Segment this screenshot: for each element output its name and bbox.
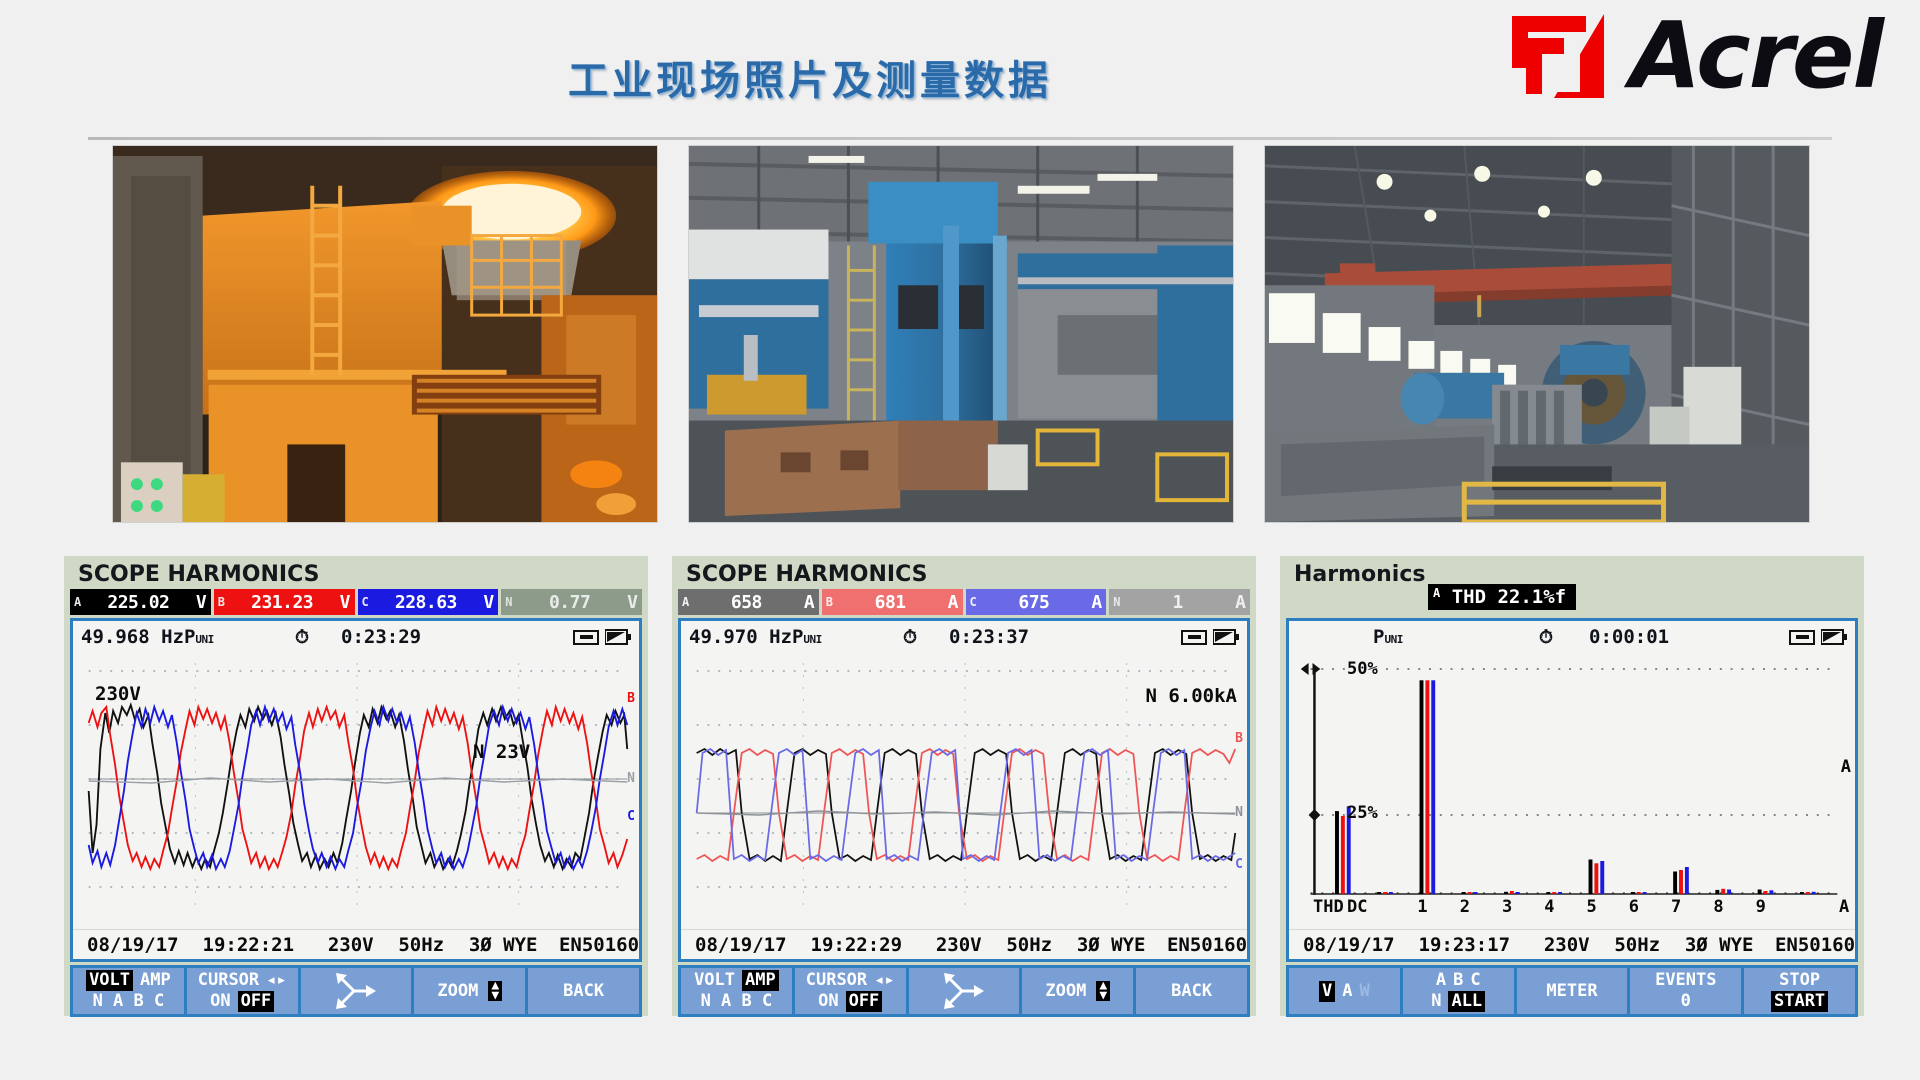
harmonic-xtick: 5 xyxy=(1587,897,1597,917)
phase-cell-c: C 228.63 V xyxy=(358,589,499,615)
phase-label-b: B xyxy=(826,595,838,609)
elapsed-time: 0:23:29 xyxy=(341,626,421,648)
harmonic-bar xyxy=(1510,891,1514,894)
neutral-scale-label: N 23V xyxy=(473,741,530,763)
softkey-phase-select[interactable]: N A B C xyxy=(93,991,165,1012)
harmonic-bar xyxy=(1727,890,1731,895)
phase-label-n: N xyxy=(505,595,517,609)
elapsed-time: 0:23:37 xyxy=(949,626,1029,648)
harmonic-xtick: 6 xyxy=(1629,897,1639,917)
footer-date: 08/19/17 xyxy=(1303,934,1419,956)
harmonic-bar xyxy=(1558,892,1562,894)
harmonic-bar xyxy=(1806,892,1810,894)
photo-row xyxy=(112,145,1812,523)
harmonic-bar xyxy=(1341,816,1345,894)
footer-frequency: 50Hz xyxy=(1614,934,1685,956)
phase-label-a: A xyxy=(682,595,694,609)
screen-status-row: 49.970 HzPUNI ⏱ 0:23:37 xyxy=(681,621,1247,653)
photo-hydraulic-forging-press xyxy=(688,145,1234,523)
harmonic-bar xyxy=(1473,892,1477,894)
softkey-phase-c[interactable]: C xyxy=(1470,970,1480,991)
softkey-volt-amp[interactable]: VOLT AMP N A B C xyxy=(681,968,792,1014)
softkey-back[interactable]: BACK xyxy=(1136,968,1247,1014)
footer-standard: EN50160 xyxy=(559,934,639,956)
harmonic-xtick: 2 xyxy=(1460,897,1470,917)
move-arrows-icon xyxy=(332,971,380,1011)
harmonic-bar xyxy=(1420,680,1424,894)
left-right-arrow-icon: ◂▸ xyxy=(874,970,894,991)
softkey-cursor[interactable]: CURSOR◂▸ ON OFF xyxy=(187,968,298,1014)
screen-status-row: 49.968 HzPUNI ⏱ 0:23:29 xyxy=(73,621,639,653)
harmonic-bar xyxy=(1516,892,1520,894)
softkey-back[interactable]: BACK xyxy=(528,968,639,1014)
harmonic-bar xyxy=(1594,863,1598,894)
harmonic-bar xyxy=(1637,892,1641,894)
harmonic-xtick: THD xyxy=(1313,897,1344,917)
footer-time: 19:23:17 xyxy=(1419,934,1544,956)
clock-icon: ⏱ xyxy=(903,627,917,648)
phase-label-b: B xyxy=(218,595,230,609)
phase-cell-n: N 0.77 V xyxy=(501,589,642,615)
footer-time: 19:22:21 xyxy=(203,934,328,956)
footer-date: 08/19/17 xyxy=(695,934,811,956)
softkey-amp-mode[interactable]: A xyxy=(1342,981,1352,1002)
phase-value-b: 231.23 xyxy=(230,592,335,613)
softkey-cursor-off[interactable]: OFF xyxy=(238,991,275,1012)
softkey-phase-all[interactable]: ALL xyxy=(1448,991,1485,1012)
harmonic-bar xyxy=(1462,892,1466,894)
footer-nominal: 230V xyxy=(1544,934,1615,956)
phase-unit-c: A xyxy=(1086,592,1102,613)
footer-standard: EN50160 xyxy=(1775,934,1855,956)
up-down-spinner-icon[interactable]: ▲▼ xyxy=(488,981,502,1001)
current-waveform-plot: N 6.00kA B N C xyxy=(681,653,1247,921)
edge-mark-c: C xyxy=(627,809,635,824)
softkey-start-label[interactable]: START xyxy=(1771,991,1828,1012)
harmonic-bar xyxy=(1552,892,1556,894)
phase-unit-n: A xyxy=(1230,592,1246,613)
neutral-scale-label: N 6.00kA xyxy=(1145,685,1237,707)
edge-mark-n: N xyxy=(627,771,635,786)
softkey-watt-mode[interactable]: W xyxy=(1360,981,1370,1002)
harmonic-xtick: 1 xyxy=(1417,897,1427,917)
harmonic-xtick: DC xyxy=(1347,897,1367,917)
phase-unit-b: V xyxy=(335,592,351,613)
harmonic-bar xyxy=(1383,892,1387,894)
footer-config: 3Ø WYE xyxy=(469,934,559,956)
edge-mark-b: B xyxy=(1235,731,1243,746)
softkey-meter-label[interactable]: METER xyxy=(1546,981,1597,1002)
phase-value-c: 675 xyxy=(982,592,1087,613)
softkey-cursor[interactable]: CURSOR◂▸ ON OFF xyxy=(795,968,906,1014)
phase-unit-b: A xyxy=(943,592,959,613)
footer-standard: EN50160 xyxy=(1167,934,1247,956)
softkey-zoom[interactable]: ZOOM ▲▼ xyxy=(414,968,525,1014)
clock-icon: ⏱ xyxy=(295,627,309,648)
edge-mark-b: B xyxy=(627,691,635,706)
softkey-amp-label[interactable]: AMP xyxy=(742,970,779,991)
softkey-zoom[interactable]: ZOOM ▲▼ xyxy=(1022,968,1133,1014)
right-phase-mark: A xyxy=(1841,757,1851,777)
status-icons xyxy=(573,629,631,645)
harmonic-bar xyxy=(1431,680,1435,894)
voltage-waveform-plot: 230V N 23V B N C xyxy=(73,653,639,921)
phase-label-c: C xyxy=(970,595,982,609)
memory-card-icon xyxy=(1789,630,1815,645)
edge-mark-n: N xyxy=(1235,805,1243,820)
softkey-cursor-on[interactable]: ON xyxy=(210,991,230,1012)
harmonic-xtick: A xyxy=(1839,897,1849,917)
harmonic-bar xyxy=(1377,892,1381,894)
harmonic-bar xyxy=(1546,892,1550,894)
softkey-zoom-label[interactable]: ZOOM xyxy=(437,981,478,1002)
softkey-amp-label[interactable]: AMP xyxy=(140,970,171,991)
header-divider xyxy=(88,137,1832,140)
acrel-logo-mark xyxy=(1508,8,1612,104)
meter-panel-scope-current: SCOPE HARMONICS A 658 A B 681 A C 675 A … xyxy=(672,556,1256,1016)
harmonics-screen: PUNI ⏱ 0:00:01 xyxy=(1286,618,1858,962)
thd-value: 22.1%f xyxy=(1497,586,1566,608)
phase-value-strip: A 658 A B 681 A C 675 A N 1 A xyxy=(678,589,1250,615)
phase-value-c: 228.63 xyxy=(374,592,479,613)
phase-value-n: 0.77 xyxy=(517,592,622,613)
softkey-bar: V A W A B C N ALL METER EVE xyxy=(1286,965,1858,1017)
left-right-arrow-icon: ◂▸ xyxy=(266,970,286,991)
voltage-scale-label: 230V xyxy=(95,683,141,705)
softkey-phase-b[interactable]: B xyxy=(1453,970,1463,991)
softkey-events[interactable]: EVENTS 0 xyxy=(1630,968,1741,1014)
harmonics-bar-chart: 50% 25% A THDDC123456789A xyxy=(1289,653,1855,921)
phase-unit-a: V xyxy=(191,592,207,613)
softkey-cursor-label[interactable]: CURSOR xyxy=(806,970,867,991)
softkey-volt-label[interactable]: VOLT xyxy=(694,970,735,991)
harmonic-bar xyxy=(1504,892,1508,894)
softkey-cursor-off[interactable]: OFF xyxy=(846,991,883,1012)
scope-screen: 49.970 HzPUNI ⏱ 0:23:37 xyxy=(678,618,1250,962)
frequency-readout: 49.970 HzPUNI xyxy=(689,626,822,648)
softkey-phase-select[interactable]: A B C N ALL xyxy=(1403,968,1514,1014)
softkey-quantity[interactable]: V A W xyxy=(1289,968,1400,1014)
harmonic-bar xyxy=(1721,889,1725,894)
screen-footer: 08/19/17 19:22:21 230V 50Hz 3Ø WYE EN501… xyxy=(73,929,639,959)
harmonic-bar xyxy=(1715,890,1719,894)
acrel-logo: Acrel xyxy=(1508,8,1882,104)
phase-label-a: A xyxy=(74,595,86,609)
frequency-readout: 49.968 HzPUNI xyxy=(81,626,214,648)
softkey-pan-arrows[interactable] xyxy=(909,968,1020,1014)
meter-panel-scope-voltage: SCOPE HARMONICS A 225.02 V B 231.23 V C … xyxy=(64,556,648,1016)
softkey-cursor-on[interactable]: ON xyxy=(818,991,838,1012)
footer-time: 19:22:29 xyxy=(811,934,936,956)
screen-status-row: PUNI ⏱ 0:00:01 xyxy=(1289,621,1855,653)
harmonic-bar xyxy=(1468,892,1472,894)
thd-phase: A xyxy=(1433,586,1440,600)
footer-frequency: 50Hz xyxy=(1006,934,1077,956)
softkey-stop-start[interactable]: STOP START xyxy=(1744,968,1855,1014)
phase-cell-n: N 1 A xyxy=(1109,589,1250,615)
harmonic-bar xyxy=(1685,867,1689,894)
slide-header: 工业现场照片及测量数据 Acrel xyxy=(0,0,1920,128)
softkey-phase-a[interactable]: A xyxy=(1436,970,1446,991)
harmonic-xtick: 9 xyxy=(1756,897,1766,917)
ytick-25: 25% xyxy=(1347,803,1378,823)
footer-config: 3Ø WYE xyxy=(1685,934,1775,956)
memory-card-icon xyxy=(573,630,599,645)
move-arrows-icon xyxy=(940,971,988,1011)
status-icons xyxy=(1181,629,1239,645)
softkey-back-label[interactable]: BACK xyxy=(563,981,604,1002)
harmonic-bar xyxy=(1812,892,1816,894)
phase-cell-c: C 675 A xyxy=(966,589,1107,615)
phase-value-strip: A 225.02 V B 231.23 V C 228.63 V N 0.77 … xyxy=(70,589,642,615)
battery-icon xyxy=(605,629,631,645)
meter-panel-harmonics: Harmonics A THD 22.1%f PUNI ⏱ 0:00:01 xyxy=(1280,556,1864,1016)
phase-cell-a: A 225.02 V xyxy=(70,589,211,615)
footer-frequency: 50Hz xyxy=(398,934,469,956)
harmonic-bar xyxy=(1335,811,1339,894)
softkey-zoom-label[interactable]: ZOOM xyxy=(1045,981,1086,1002)
panel-title: SCOPE HARMONICS xyxy=(678,560,1250,589)
screen-footer: 08/19/17 19:23:17 230V 50Hz 3Ø WYE EN501… xyxy=(1289,929,1855,959)
harmonic-bar xyxy=(1679,870,1683,894)
meter-panels-row: SCOPE HARMONICS A 225.02 V B 231.23 V C … xyxy=(64,556,1864,1016)
memory-card-icon xyxy=(1181,630,1207,645)
phase-label-c: C xyxy=(362,595,374,609)
footer-nominal: 230V xyxy=(936,934,1007,956)
softkey-events-count[interactable]: 0 xyxy=(1681,991,1691,1012)
phase-label-n: N xyxy=(1113,595,1125,609)
softkey-stop-label[interactable]: STOP xyxy=(1779,970,1820,991)
softkey-events-label[interactable]: EVENTS xyxy=(1655,970,1716,991)
thd-label: THD xyxy=(1452,586,1486,608)
phase-unit-c: V xyxy=(478,592,494,613)
harmonic-xtick: 4 xyxy=(1544,897,1554,917)
footer-date: 08/19/17 xyxy=(87,934,203,956)
softkey-pan-arrows[interactable] xyxy=(301,968,412,1014)
screen-footer: 08/19/17 19:22:29 230V 50Hz 3Ø WYE EN501… xyxy=(681,929,1247,959)
phase-value-b: 681 xyxy=(838,592,943,613)
softkey-cursor-label[interactable]: CURSOR xyxy=(198,970,259,991)
phase-unit-n: V xyxy=(622,592,638,613)
footer-nominal: 230V xyxy=(328,934,399,956)
photo-steel-ladle-furnace xyxy=(112,145,658,523)
up-down-spinner-icon[interactable]: ▲▼ xyxy=(1096,981,1110,1001)
harmonic-bar xyxy=(1389,892,1393,894)
scope-screen: 49.968 HzPUNI ⏱ 0:23:29 xyxy=(70,618,642,962)
softkey-bar: VOLT AMP N A B C CURSOR◂▸ ON OFF xyxy=(678,965,1250,1017)
harmonic-bar xyxy=(1673,872,1677,895)
ytick-50: 50% xyxy=(1347,659,1378,679)
battery-icon xyxy=(1213,629,1239,645)
harmonic-bar xyxy=(1764,891,1768,894)
harmonic-bar xyxy=(1589,860,1593,895)
panel-title: SCOPE HARMONICS xyxy=(70,560,642,589)
phase-value-a: 658 xyxy=(694,592,799,613)
phase-cell-b: B 231.23 V xyxy=(214,589,355,615)
harmonic-xtick: 3 xyxy=(1502,897,1512,917)
harmonic-bar xyxy=(1800,892,1804,894)
phase-value-a: 225.02 xyxy=(86,592,191,613)
photo-rolling-mill-workshop xyxy=(1264,145,1810,523)
battery-icon xyxy=(1821,629,1847,645)
elapsed-time: 0:00:01 xyxy=(1589,626,1669,648)
power-mode-readout: PUNI xyxy=(1373,626,1403,648)
phase-unit-a: A xyxy=(799,592,815,613)
thd-badge: A THD 22.1%f xyxy=(1428,584,1576,610)
status-icons xyxy=(1789,629,1847,645)
softkey-back-label[interactable]: BACK xyxy=(1171,981,1212,1002)
softkey-meter[interactable]: METER xyxy=(1517,968,1628,1014)
acrel-logo-text: Acrel xyxy=(1630,8,1882,104)
phase-cell-a: A 658 A xyxy=(678,589,819,615)
harmonic-bar xyxy=(1600,861,1604,894)
clock-icon: ⏱ xyxy=(1539,627,1553,648)
harmonic-xtick: 7 xyxy=(1671,897,1681,917)
softkey-bar: VOLT AMP N A B C CURSOR◂▸ ON OFF xyxy=(70,965,642,1017)
footer-config: 3Ø WYE xyxy=(1077,934,1167,956)
softkey-phase-select[interactable]: N A B C xyxy=(701,991,773,1012)
softkey-volt-amp[interactable]: VOLT AMP N A B C xyxy=(73,968,184,1014)
harmonic-bar xyxy=(1425,680,1429,894)
harmonic-bar xyxy=(1769,890,1773,894)
harmonic-bar xyxy=(1758,890,1762,895)
phase-cell-b: B 681 A xyxy=(822,589,963,615)
softkey-phase-n[interactable]: N xyxy=(1431,991,1441,1012)
harmonic-bar xyxy=(1643,892,1647,894)
phase-value-n: 1 xyxy=(1125,592,1230,613)
softkey-volt-mode[interactable]: V xyxy=(1319,981,1335,1002)
softkey-volt-label[interactable]: VOLT xyxy=(86,970,133,991)
edge-mark-c: C xyxy=(1235,857,1243,872)
harmonic-xtick: 8 xyxy=(1713,897,1723,917)
harmonic-bar xyxy=(1631,892,1635,894)
